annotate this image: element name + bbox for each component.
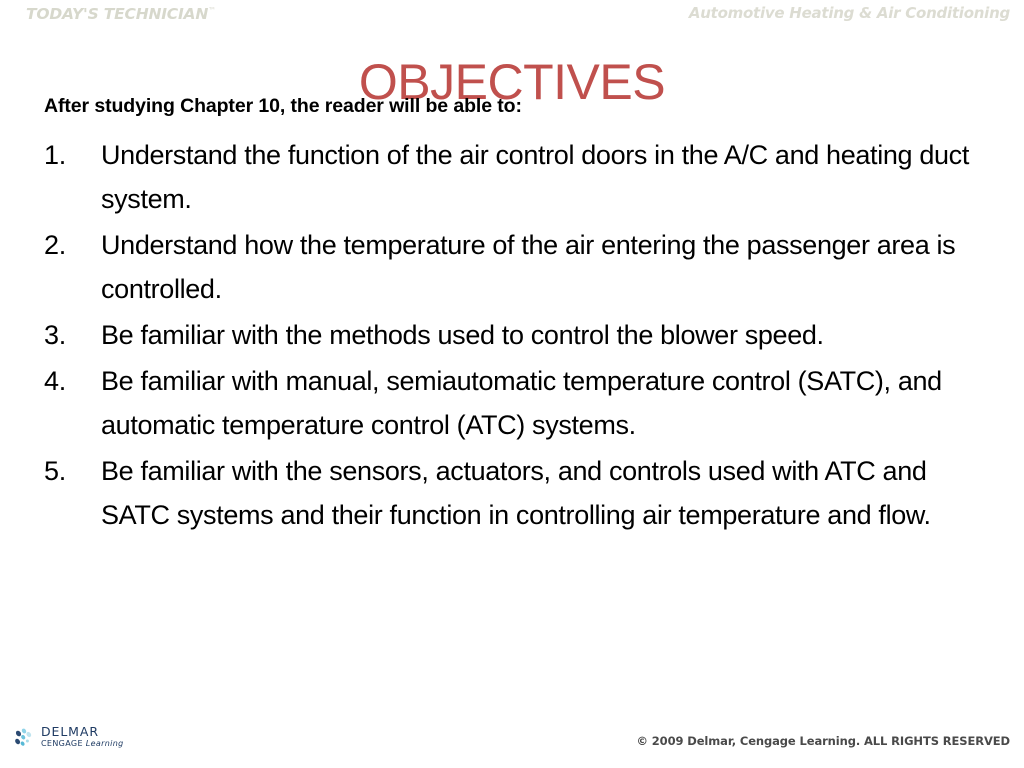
list-item-number: 2. bbox=[44, 223, 101, 267]
list-item-text: Be familiar with the sensors, actuators,… bbox=[101, 449, 981, 537]
list-item: 5. Be familiar with the sensors, actuato… bbox=[44, 449, 984, 537]
intro-text: After studying Chapter 10, the reader wi… bbox=[44, 95, 522, 118]
list-item: 3. Be familiar with the methods used to … bbox=[44, 313, 984, 357]
list-item-number: 4. bbox=[44, 359, 101, 403]
list-item-text: Understand how the temperature of the ai… bbox=[101, 223, 981, 311]
list-item: 2. Understand how the temperature of the… bbox=[44, 223, 984, 311]
list-item-text: Be familiar with manual, semiautomatic t… bbox=[101, 359, 981, 447]
list-item-number: 3. bbox=[44, 313, 101, 357]
list-item-number: 5. bbox=[44, 449, 101, 493]
objectives-list: 1. Understand the function of the air co… bbox=[44, 133, 984, 539]
list-item-text: Understand the function of the air contr… bbox=[101, 133, 981, 221]
list-item-number: 1. bbox=[44, 133, 101, 177]
slide-body: After studying Chapter 10, the reader wi… bbox=[0, 0, 1024, 768]
list-item: 1. Understand the function of the air co… bbox=[44, 133, 984, 221]
list-item-text: Be familiar with the methods used to con… bbox=[101, 313, 981, 357]
list-item: 4. Be familiar with manual, semiautomati… bbox=[44, 359, 984, 447]
